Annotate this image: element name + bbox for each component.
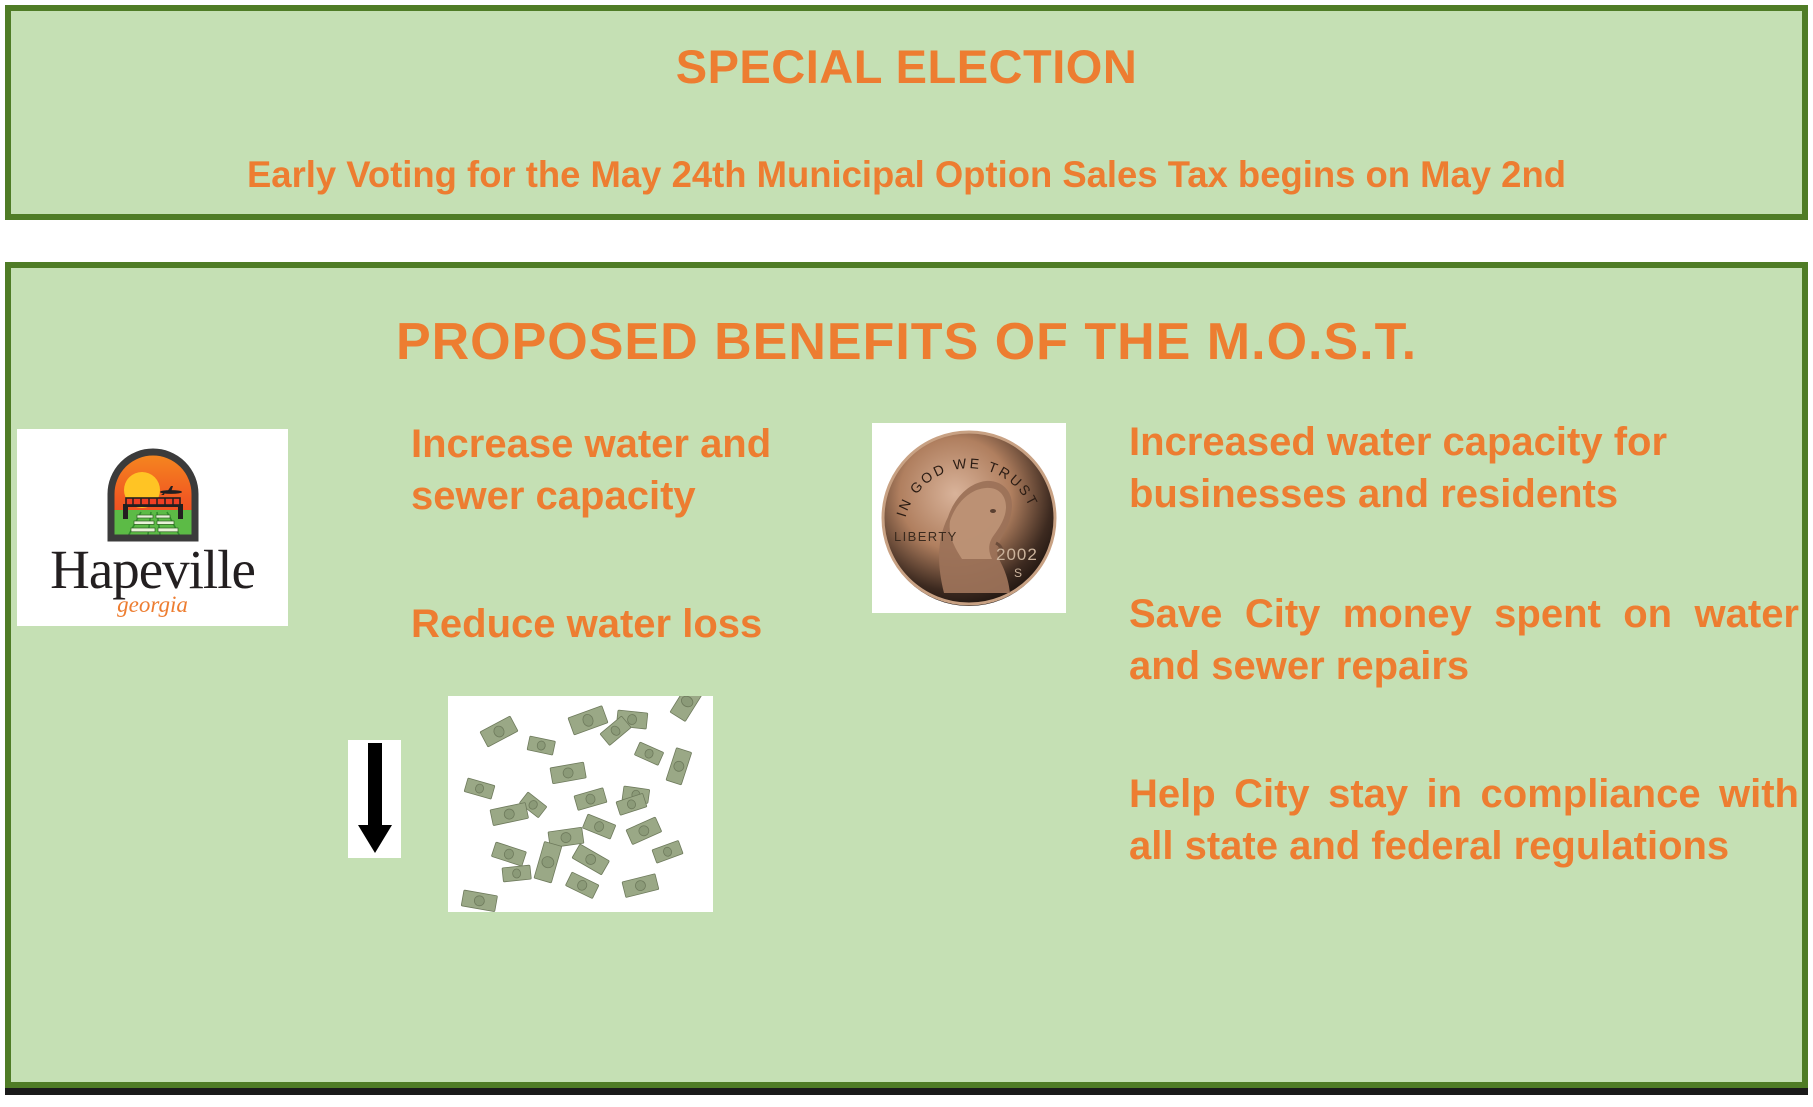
svg-text:S: S (1014, 566, 1022, 580)
proposed-benefits-panel: PROPOSED BENEFITS OF THE M.O.S.T. (5, 262, 1808, 1088)
page-title: SPECIAL ELECTION (676, 39, 1138, 94)
down-arrow-icon (357, 743, 393, 855)
section-title: PROPOSED BENEFITS OF THE M.O.S.T. (11, 312, 1802, 372)
lincoln-penny-icon: IN GOD WE TRUST LIBERTY 2002 S (876, 425, 1062, 611)
falling-dollar-bills-icon (448, 696, 713, 912)
logo-wordmark: Hapeville (17, 541, 288, 599)
flyer-page: SPECIAL ELECTION Early Voting for the Ma… (0, 0, 1813, 1107)
svg-text:LIBERTY: LIBERTY (894, 529, 958, 544)
down-arrow-graphic (348, 740, 401, 858)
hapeville-logo: Hapeville georgia (17, 429, 288, 626)
bottom-divider (5, 1088, 1808, 1095)
benefit-compliance-text: Help City stay in compliance with all st… (1129, 768, 1799, 872)
early-voting-subtitle: Early Voting for the May 24th Municipal … (24, 154, 1788, 196)
special-election-banner: SPECIAL ELECTION Early Voting for the Ma… (5, 5, 1808, 220)
svg-text:2002: 2002 (996, 545, 1038, 564)
logo-subtext: georgia (17, 592, 288, 618)
hapeville-city-seal-icon (101, 442, 205, 545)
falling-money-image (448, 696, 713, 912)
benefit-increase-capacity-text: Increase water and sewer capacity (411, 418, 841, 522)
benefit-save-money-text: Save City money spent on water and sewer… (1129, 588, 1799, 692)
benefit-increased-capacity-text: Increased water capacity for businesses … (1129, 416, 1809, 520)
benefit-reduce-water-loss-text: Reduce water loss (411, 598, 851, 650)
penny-image: IN GOD WE TRUST LIBERTY 2002 S (872, 423, 1066, 613)
